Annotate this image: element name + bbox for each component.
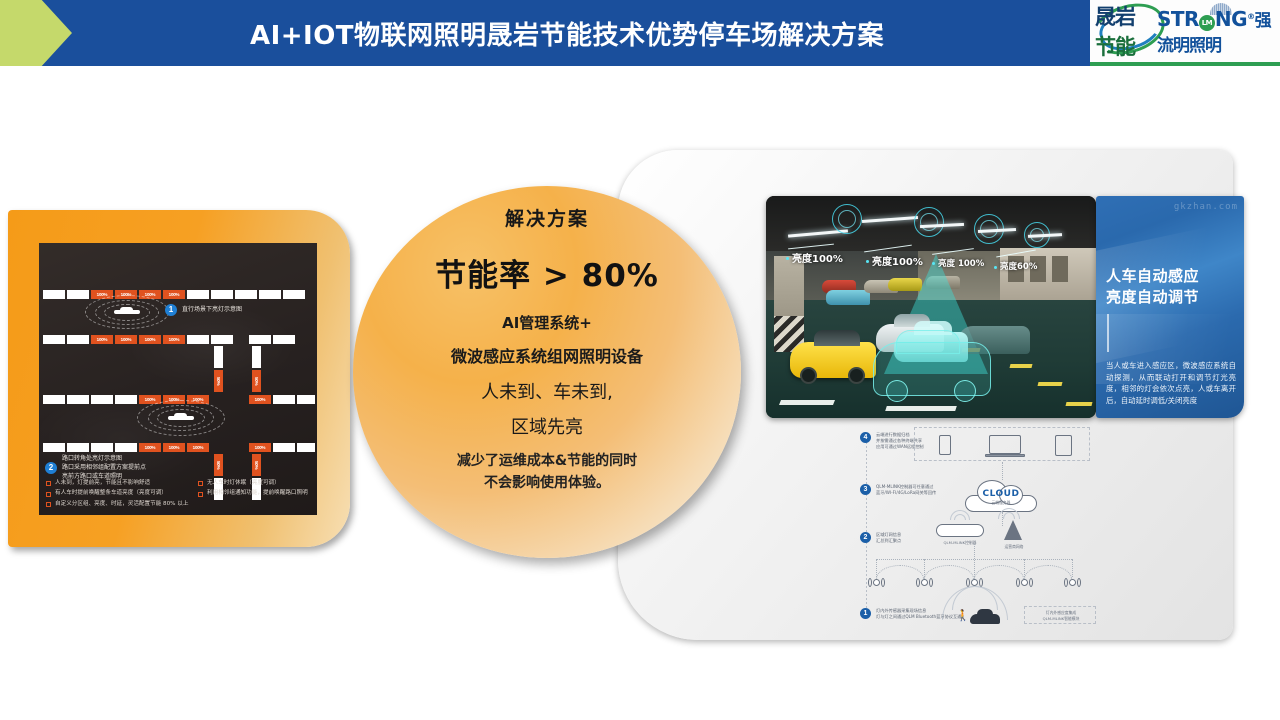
car-icon [970, 614, 1000, 624]
lamp-on: 100% [187, 443, 209, 452]
slide-canvas: AI+IOT物联网照明晟岩节能技术优势停车场解决方案 晟岩节能 STRLMNG®… [0, 0, 1280, 720]
lamp-on: 100% [163, 290, 185, 299]
smart-lamp-node-icon [1016, 577, 1033, 589]
checkbox-icon [46, 492, 51, 497]
lamp-off [43, 443, 65, 452]
lamp-on-vertical: 50% [252, 454, 261, 476]
pedestrian-icon: 🚶 [956, 610, 970, 621]
lamp-off [259, 290, 281, 299]
lane-marking [1010, 364, 1033, 368]
legend-text: 利用相邻组通知功能，提前唤醒路口照明 [207, 490, 308, 497]
scene-2-line-1: 路口转角处亮灯示意图 [62, 455, 122, 464]
logo-brand-cn-accent: 节能 [1095, 35, 1135, 59]
registered-mark: ® [1247, 12, 1255, 21]
smart-lamp-node-icon [868, 577, 885, 589]
garage-side-room [1000, 248, 1096, 306]
step-text: 区域灯网信息 汇总到汇聚点 [876, 532, 901, 544]
solution-line-4: 区域先亮 [511, 413, 583, 439]
cloud-sublabel: 云端服务器 [965, 500, 1037, 506]
step-text: 灯内外传感器采集现场信息 灯与灯之间通过QLM Bluetooth蓝牙协议互通 [876, 608, 961, 620]
legend-text: 无人车时灯休眠（亮度可调） [207, 480, 280, 487]
lamp-off [283, 290, 305, 299]
callout-dot [932, 262, 935, 265]
legend-item: 有人车时提前唤醒整条车道亮度（亮度可调） [46, 490, 198, 497]
step-number-badge: 1 [860, 608, 871, 619]
phone-icon [939, 435, 951, 455]
yellow-car [790, 342, 876, 378]
floor-arrow [779, 400, 835, 405]
lamp-off [211, 290, 233, 299]
client-devices-group [914, 427, 1090, 461]
lamp-off [187, 290, 209, 299]
branch-line [974, 544, 975, 577]
solution-footer-line-1: 减少了运维成本&节能的同时 [457, 450, 637, 472]
legend-text: 人未到，灯提前亮，节能且不影响舒适 [55, 480, 150, 487]
scene-2-line-2: 路口采用相邻组配置方案提前点 [62, 464, 146, 473]
smart-lamp-node-icon [916, 577, 933, 589]
diagram-step-3: 3 QLM-MLINK控制器可任意通过 蓝牙/WI-FI/4G/LoRa网关等回… [860, 484, 936, 496]
solution-footer-line-2: 不会影响使用体验。 [457, 472, 637, 494]
lamp-on: 100% [163, 443, 185, 452]
lane-marking [1066, 402, 1093, 406]
logo-en-pre: STR [1157, 7, 1199, 31]
signal-wave [1003, 512, 1015, 519]
legend-item: 人未到，灯提前亮，节能且不影响舒适 [46, 480, 198, 487]
legend-item: 自定义分区组、亮度、时延，灵活配置节能 80% 以上 [46, 501, 188, 508]
car-icon [114, 307, 140, 316]
logo-en-post: NG [1215, 7, 1247, 31]
lamp-on: 100% [139, 443, 161, 452]
lamp-on: 100% [91, 335, 113, 344]
microwave-sensor-icon [914, 207, 944, 237]
lamp-off [67, 443, 89, 452]
solution-headline: 节能率 > 80% [435, 250, 659, 295]
lamp-off [273, 335, 295, 344]
diagram-spine [866, 442, 867, 618]
lamp-off [43, 395, 65, 404]
floor-arrow [885, 406, 957, 411]
lamp-off [297, 443, 315, 452]
divider [1107, 314, 1109, 352]
note-box: 灯内外感应度集成 QLM-MLINK智能模块 [1024, 606, 1096, 624]
callout-dot [866, 260, 869, 263]
router-wifi-icon [936, 524, 984, 537]
tower-label: 运营商网络 [978, 544, 1050, 549]
cell-tower-icon [1004, 520, 1022, 540]
lamp-off [43, 335, 65, 344]
solution-footer: 减少了运维成本&节能的同时 不会影响使用体验。 [457, 450, 637, 494]
lamp-off [67, 335, 89, 344]
diagram-step-2: 2 区域灯网信息 汇总到汇聚点 [860, 532, 901, 544]
legend-text: 有人车时提前唤醒整条车道亮度（亮度可调） [55, 490, 167, 497]
solution-title: 解决方案 [505, 204, 589, 231]
step-text: QLM-MLINK控制器可任意通过 蓝牙/WI-FI/4G/LoRa网关等回传 [876, 484, 936, 496]
branch-line [1072, 559, 1073, 577]
brightness-tag: 亮度60% [1000, 260, 1037, 272]
step-number-badge: 4 [860, 432, 871, 443]
panel-heading-line-1: 人车自动感应 [1106, 266, 1199, 287]
tablet-icon [1055, 435, 1072, 456]
lamp-off [273, 395, 295, 404]
slide-header: AI+IOT物联网照明晟岩节能技术优势停车场解决方案 晟岩节能 STRLMNG®… [0, 0, 1280, 66]
cloud-icon: CLOUD 云端服务器 [965, 480, 1037, 512]
solution-line-2: 微波感应系统组网照明设备 [451, 343, 643, 367]
lane-marking [1038, 382, 1063, 386]
legend-item: 无人车时灯休眠（亮度可调） [198, 480, 280, 487]
legend-text: 自定义分区组、亮度、时延，灵活配置节能 80% 以上 [55, 501, 188, 508]
lamp-off [273, 443, 295, 452]
laptop-icon [989, 435, 1021, 454]
feature-blue-panel: gkzhan.com 人车自动感应 亮度自动调节 当人或车进入感应区，微波感应系… [1096, 196, 1244, 418]
step-number-badge: 3 [860, 484, 871, 495]
lamp-off [67, 290, 89, 299]
link-line [1002, 462, 1003, 480]
network-architecture-diagram: 4 云端进行数据归档 并按需通过各种终端共享 应用可通过WAN远程控制 3 QL… [828, 428, 1100, 633]
lamp-off [115, 443, 137, 452]
logo-underline [1090, 62, 1280, 66]
lamp-off [91, 395, 113, 404]
parked-car-far [826, 290, 870, 305]
panel-heading-line-2: 亮度自动调节 [1106, 287, 1199, 308]
brightness-tag: 亮度 100% [938, 257, 984, 269]
lamp-on: 100% [163, 335, 185, 344]
page-title: AI+IOT物联网照明晟岩节能技术优势停车场解决方案 [62, 0, 1072, 66]
diagram-step-1: 1 灯内外传感器采集现场信息 灯与灯之间通过QLM Bluetooth蓝牙协议互… [860, 608, 961, 620]
checkbox-icon [46, 481, 51, 486]
brightness-tag: 亮度100% [792, 250, 843, 265]
lamp-off-vertical [252, 346, 261, 368]
note-line-2: QLM-MLINK智能模块 [1025, 616, 1097, 621]
lamp-off [67, 395, 89, 404]
car-icon [168, 413, 194, 422]
solution-line-1: AI管理系统+ [502, 312, 592, 333]
microwave-sensor-icon [832, 204, 862, 234]
wireframe-car-icon [873, 342, 991, 396]
lamp-on-vertical: 50% [252, 370, 261, 392]
checkbox-icon [198, 481, 203, 486]
brightness-tag: 亮度100% [872, 253, 923, 268]
logo-lm-badge: LM [1199, 15, 1215, 31]
laptop-base [985, 454, 1025, 457]
lamp-off [249, 335, 271, 344]
panel-heading: 人车自动感应 亮度自动调节 [1106, 266, 1199, 308]
lamp-on: 100% [249, 443, 271, 452]
scene-badge-1: 1 [165, 304, 177, 316]
callout-dot [994, 266, 997, 269]
lamp-off [235, 290, 257, 299]
cloud-label: CLOUD [965, 489, 1037, 499]
logo-brand-cn-dark: 晟岩 [1095, 5, 1135, 29]
lamp-off-vertical [214, 346, 223, 368]
left-orange-card: 100% 100% 100% 100% 1 直行场景下亮灯示意图 100% 10… [8, 210, 350, 547]
lamp-on-vertical: 50% [214, 370, 223, 392]
lamp-off [297, 395, 315, 404]
lamp-on: 100% [115, 335, 137, 344]
lamp-off [91, 443, 113, 452]
lamp-off [115, 395, 137, 404]
lamp-off [211, 335, 233, 344]
lamp-on: 100% [249, 395, 271, 404]
lamp-off [43, 290, 65, 299]
parking-layout-diagram: 100% 100% 100% 100% 1 直行场景下亮灯示意图 100% 10… [39, 243, 317, 515]
wifi-wave [954, 514, 966, 520]
scene-badge-2: 2 [45, 462, 57, 474]
solution-ellipse: 解决方案 节能率 > 80% AI管理系统+ 微波感应系统组网照明设备 人未到、… [353, 186, 741, 558]
callout-dot [786, 257, 789, 260]
lamp-off [187, 335, 209, 344]
brand-logo: 晟岩节能 STRLMNG®强流明照明 [1090, 0, 1280, 62]
panel-body-text: 当人或车进入感应区，微波感应系统自动探测，从而联动打开和调节灯光亮度，相邻的灯会… [1106, 360, 1236, 406]
checkbox-icon [46, 502, 51, 507]
watermark-text: gkzhan.com [1174, 202, 1238, 212]
legend-item: 利用相邻组通知功能，提前唤醒路口照明 [198, 490, 308, 497]
window [1052, 256, 1068, 282]
smart-lamp-node-icon [1064, 577, 1081, 589]
scene-1-label: 直行场景下亮灯示意图 [182, 306, 242, 315]
logo-brand-cn: 晟岩节能 [1095, 1, 1150, 61]
lamp-on-vertical: 50% [214, 454, 223, 476]
checkbox-icon [198, 492, 203, 497]
parking-garage-photo: 亮度100% 亮度100% 亮度 100% 亮度60% [766, 196, 1096, 418]
diagram-legend: 人未到，灯提前亮，节能且不影响舒适 无人车时灯休眠（亮度可调） 有人车时提前唤醒… [46, 480, 312, 512]
lamp-on: 100% [139, 335, 161, 344]
solution-line-3: 人未到、车未到, [481, 378, 613, 404]
logo-brand-en: STRLMNG®强流明照明 [1157, 6, 1279, 56]
note-line-1: 灯内外感应度集成 [1025, 610, 1097, 615]
step-number-badge: 2 [860, 532, 871, 543]
